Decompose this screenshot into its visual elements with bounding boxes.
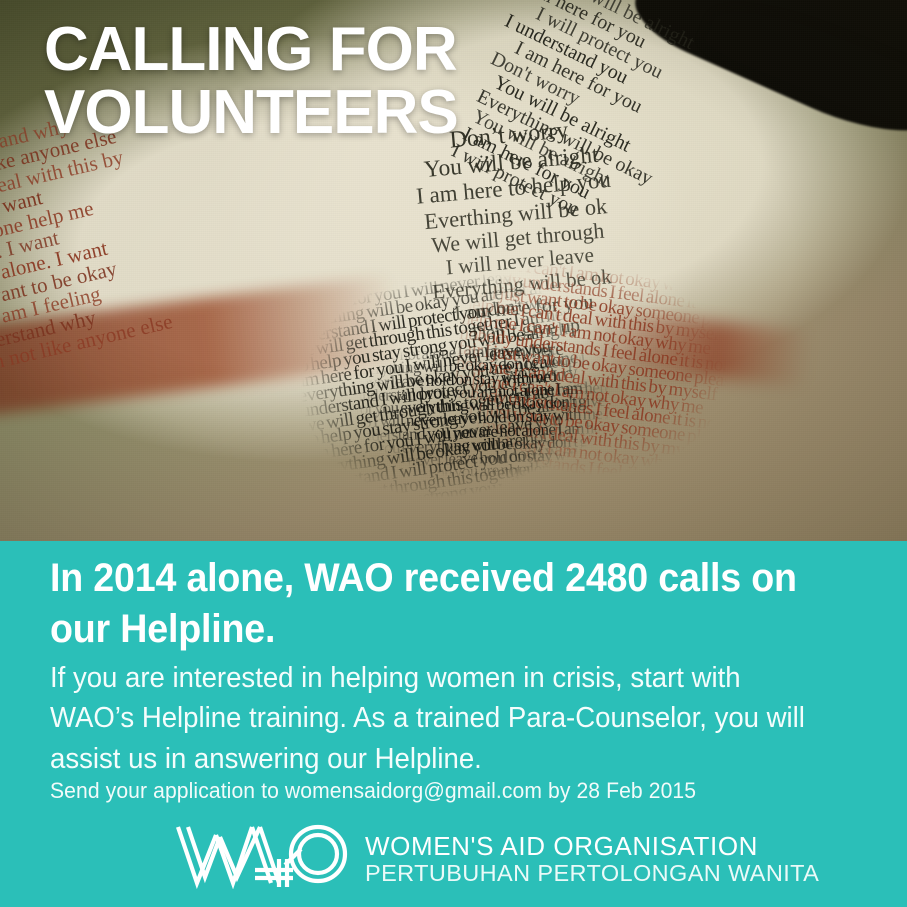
word-art-line: Don't worry [479,44,907,290]
dark-sleeve-shape [624,0,907,163]
headline-line-1: CALLING FOR [44,18,458,81]
volunteer-description: If you are interested in helping women i… [50,658,821,779]
center-phrase: won ta [364,348,695,397]
word-art-line: I understand you [496,8,907,254]
word-art-line: You will be alright [523,0,907,200]
clasped-hand-red-letters: help me I can't I am not okay why me nob… [443,253,758,507]
center-phrase: I am here for you [359,283,690,334]
center-phrase: We will get through [352,212,683,265]
word-art-line: understand why [0,235,408,362]
wao-logo: WOMEN'S AID ORGANISATION PERTUBUHAN PERT… [175,822,755,894]
right-wrist-shadow [578,308,812,387]
center-phrase: I will never leave [355,236,686,289]
body-line-2: WAO’s Helpline training. As a trained Pa… [50,698,821,738]
center-phrase-stack: Don’t worryYou will be alrightI am here … [343,108,696,418]
word-art-line: You will be alright [452,98,907,344]
poster-headline: CALLING FOR VOLUNTEERS [44,18,458,144]
fingers-letter-mass: you are not alone I am here for you ever… [352,341,617,500]
poster-canvas: understand whyI am not like anyone elsec… [0,0,907,907]
logo-name-english: WOMEN'S AID ORGANISATION [365,833,819,859]
word-art-line: why am I feeling [0,214,403,341]
word-art-line: I am here for you [444,116,907,362]
stat-line-2: our Helpline. [50,607,275,651]
right-arm-word-text: You will be alrightI am here for youI wi… [409,0,907,434]
dark-sleeve-shadow [696,0,907,144]
word-art-line: not fair. I want [0,152,389,279]
word-art-line: to be alone. I want [0,173,394,300]
word-art-line: I am here for you [514,0,907,218]
wao-monogram-icon [175,823,351,894]
word-art-line: just want to be okay [0,193,398,320]
word-art-line: I will protect you [505,0,907,236]
center-phrase: eave [366,369,696,418]
wao-logo-wordmark: WOMEN'S AID ORGANISATION PERTUBUHAN PERT… [365,830,819,886]
word-art-line: Everything will be okay [461,80,907,326]
center-phrase: Everything will be ok [357,260,688,312]
left-wrist-shadow [0,275,404,416]
helpline-statistic: In 2014 alone, WAO received 2480 calls o… [50,553,816,655]
word-art-line: I am here for you [488,26,907,272]
clasped-hand-dark-letters: I am here for you I will never leave you… [285,260,614,530]
application-instruction: Send your application to womensaidorg@gm… [50,778,696,804]
center-phrase: I am here [362,327,693,377]
body-line-3: assist us in answering our Helpline. [50,739,821,779]
teal-info-panel: In 2014 alone, WAO received 2480 calls o… [0,541,907,907]
word-art-line: I will protect you [435,134,907,380]
headline-line-2: VOLUNTEERS [44,81,458,144]
center-phrase: Everthing will be ok [350,187,681,241]
word-art-line: You will be alright [470,62,907,308]
center-phrase: I am here to help you [348,161,679,215]
word-art-line: someone help me [0,131,384,258]
body-line-1: If you are interested in helping women i… [50,658,821,698]
center-phrase: Don’t give up [361,305,692,356]
word-art-line: I am not like anyone else [0,256,413,383]
stat-line-1: In 2014 alone, WAO received 2480 calls o… [50,556,797,600]
logo-name-malay: PERTUBUHAN PERTOLONGAN WANITA [365,862,819,886]
